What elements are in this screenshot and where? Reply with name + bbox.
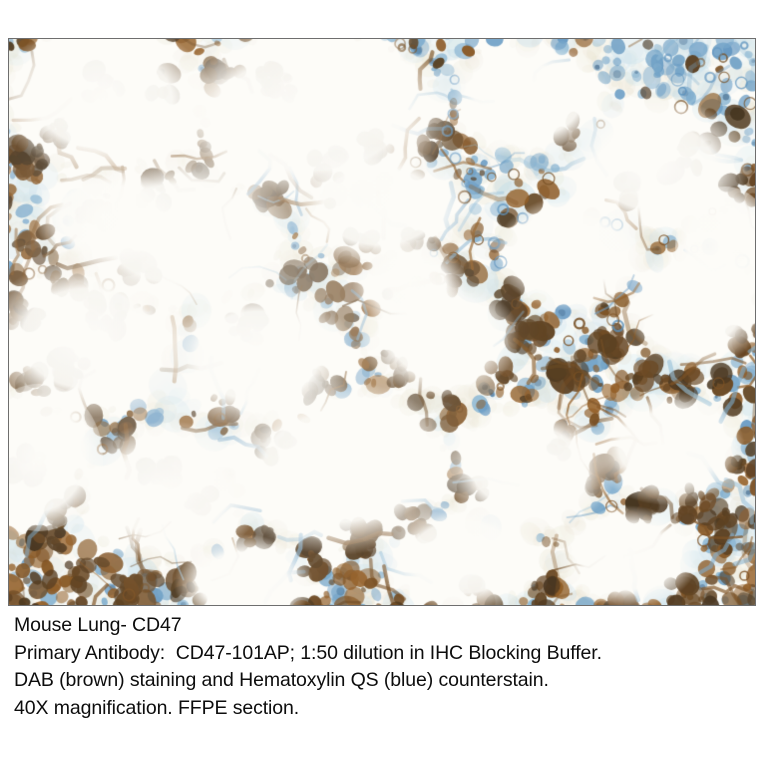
figure-page: Mouse Lung- CD47 Primary Antibody: CD47-… <box>0 0 764 764</box>
micrograph-frame <box>8 38 756 606</box>
tissue-canvas <box>9 39 755 605</box>
caption-line-stain: DAB (brown) staining and Hematoxylin QS … <box>14 667 754 695</box>
caption-line-antibody: Primary Antibody: CD47-101AP; 1:50 dilut… <box>14 640 754 668</box>
caption-line-title: Mouse Lung- CD47 <box>14 612 754 640</box>
caption-block: Mouse Lung- CD47 Primary Antibody: CD47-… <box>14 612 754 722</box>
caption-line-magnification: 40X magnification. FFPE section. <box>14 695 754 723</box>
ihc-micrograph <box>9 39 755 605</box>
